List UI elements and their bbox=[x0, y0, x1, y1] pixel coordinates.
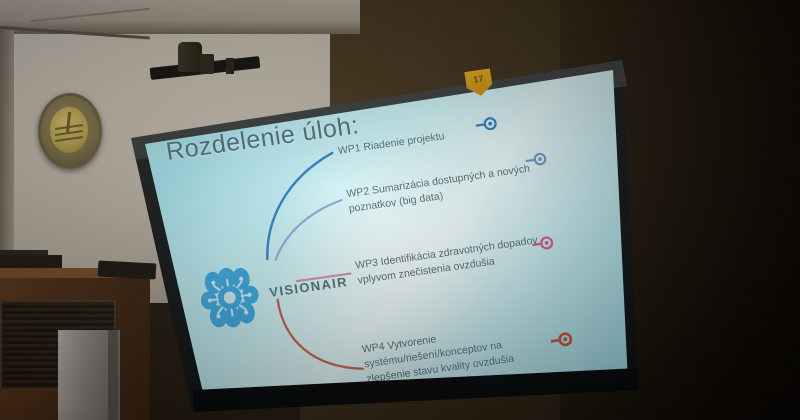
interactive-display[interactable]: Rozdelenie úloh: bbox=[119, 60, 639, 412]
camera-nub bbox=[226, 58, 234, 74]
wall-emblem-seal bbox=[38, 93, 102, 169]
screen-vignette bbox=[119, 60, 639, 412]
photo-scene: Rozdelenie úloh: bbox=[0, 0, 800, 420]
wall-corner bbox=[0, 30, 14, 280]
pillar-edge bbox=[108, 330, 118, 420]
camera-icon bbox=[178, 42, 202, 72]
slide-number: 17 bbox=[473, 73, 484, 84]
ceiling-grid-line bbox=[30, 8, 150, 23]
display-screen[interactable]: Rozdelenie úloh: bbox=[119, 60, 639, 412]
camera-side-module bbox=[200, 54, 214, 74]
